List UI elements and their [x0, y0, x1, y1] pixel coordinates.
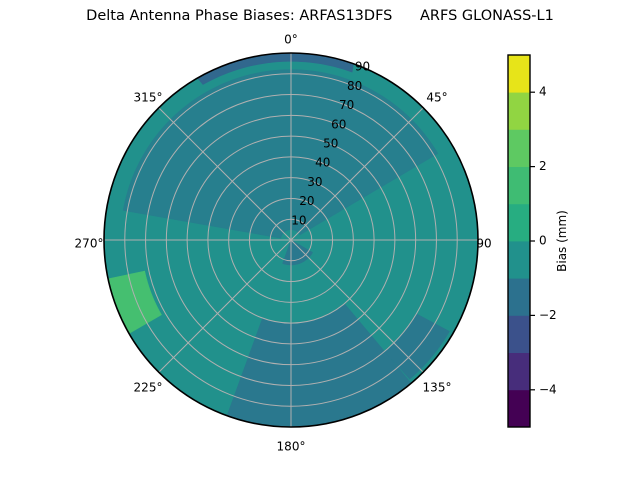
colorbar-tick-label: 0: [539, 234, 547, 248]
figure-canvas: Delta Antenna Phase Biases: ARFAS13DFS A…: [0, 0, 640, 480]
colorbar-tick-label: −2: [539, 308, 557, 322]
colorbar-swatches: [508, 55, 530, 427]
colorbar-tick-label: 2: [539, 159, 547, 173]
colorbar-swatch: [508, 55, 530, 93]
colorbar-ticks: −4−2024: [530, 85, 557, 397]
colorbar: −4−2024 Bias (mm): [0, 0, 640, 480]
colorbar-axis-label: Bias (mm): [555, 210, 569, 272]
colorbar-swatch: [508, 278, 530, 316]
colorbar-swatch: [508, 92, 530, 130]
colorbar-swatch: [508, 315, 530, 353]
colorbar-swatch: [508, 167, 530, 205]
colorbar-swatch: [508, 204, 530, 242]
colorbar-swatch: [508, 241, 530, 279]
colorbar-swatch: [508, 129, 530, 167]
colorbar-swatch: [508, 390, 530, 428]
colorbar-tick-label: −4: [539, 382, 557, 396]
colorbar-tick-label: 4: [539, 85, 547, 99]
colorbar-swatch: [508, 353, 530, 391]
